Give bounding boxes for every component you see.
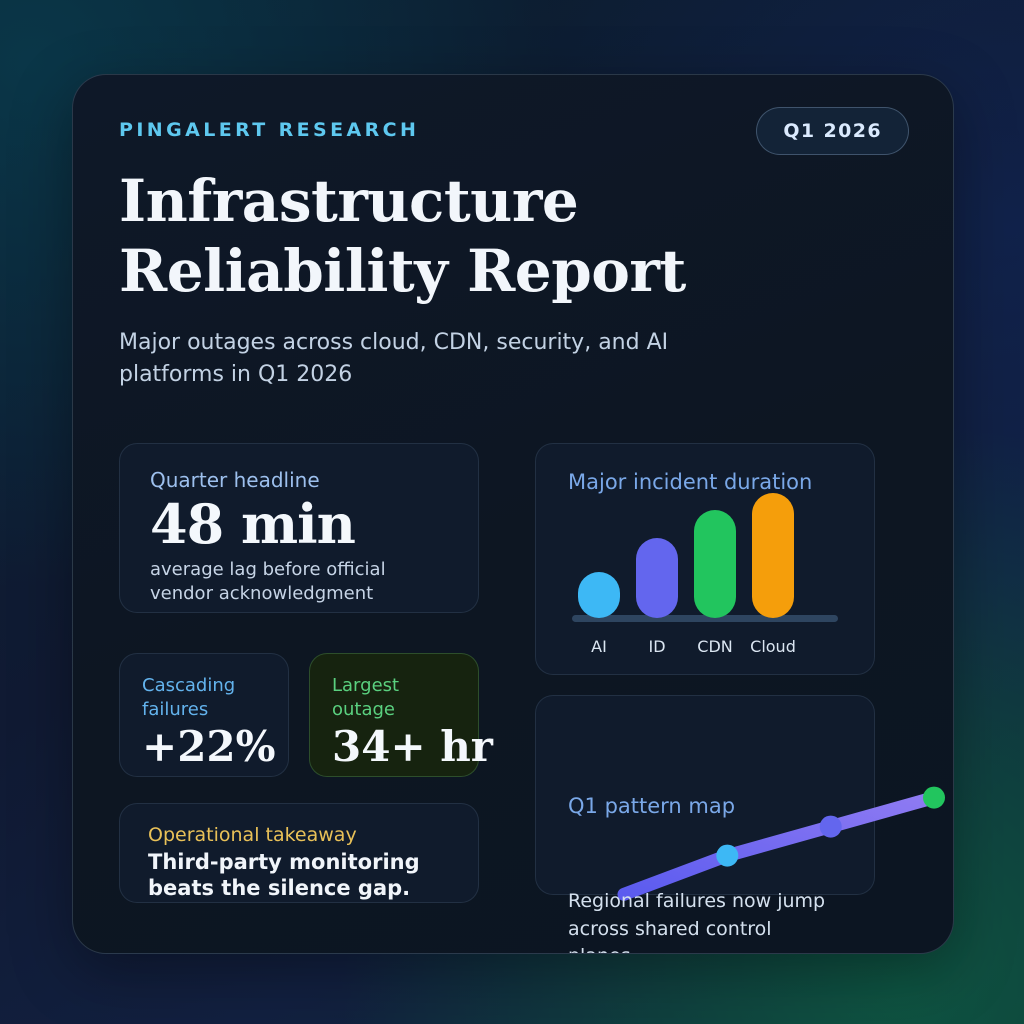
operational-takeaway-card: Operational takeaway Third-party monitor… [119,803,479,903]
pattern-map-text: Regional failures now jump across shared… [568,888,838,954]
sparkline-point [923,787,945,809]
bar-rect [694,510,736,618]
stat-card-largest-outage: Largest outage 34+ hr [309,653,479,777]
bar-rect [578,572,620,618]
brand-eyebrow: PINGALERT RESEARCH [119,119,419,141]
bar-cdn [694,510,736,618]
q1-pattern-map-card: Q1 pattern map Regional failures now jum… [535,695,875,895]
stat-label: Cascading failures [142,674,266,723]
bar-ai [578,572,620,618]
infographic-canvas: PINGALERT RESEARCH Q1 2026 Infrastructur… [0,0,1024,1024]
report-panel: PINGALERT RESEARCH Q1 2026 Infrastructur… [72,74,954,954]
bar-rect [752,493,794,618]
quarter-headline-label: Quarter headline [150,468,448,492]
bar-label-ai: AI [569,637,629,656]
page-title: Infrastructure Reliability Report [119,167,759,306]
quarter-headline-card: Quarter headline 48 min average lag befo… [119,443,479,613]
bar-rect [636,538,678,618]
bar-chart-bars [578,458,858,618]
bar-label-id: ID [627,637,687,656]
quarter-badge[interactable]: Q1 2026 [756,107,909,155]
takeaway-label: Operational takeaway [148,824,450,846]
incident-duration-chart-card: Major incident duration AIIDCDNCloud [535,443,875,675]
stat-value: +22% [142,725,266,769]
page-subtitle: Major outages across cloud, CDN, securit… [119,327,679,391]
bar-label-cloud: Cloud [743,637,803,656]
sparkline-point [716,845,738,867]
bar-cloud [752,493,794,618]
quarter-headline-value: 48 min [150,494,448,554]
quarter-headline-note: average lag before official vendor ackno… [150,558,430,605]
sparkline-point [820,816,842,838]
stat-label: Largest outage [332,674,456,723]
stat-value: 34+ hr [332,725,456,769]
bar-id [636,538,678,618]
bar-label-cdn: CDN [685,637,745,656]
stat-card-cascading-failures: Cascading failures +22% [119,653,289,777]
pattern-map-title: Q1 pattern map [568,794,735,818]
takeaway-text: Third-party monitoring beats the silence… [148,850,448,901]
